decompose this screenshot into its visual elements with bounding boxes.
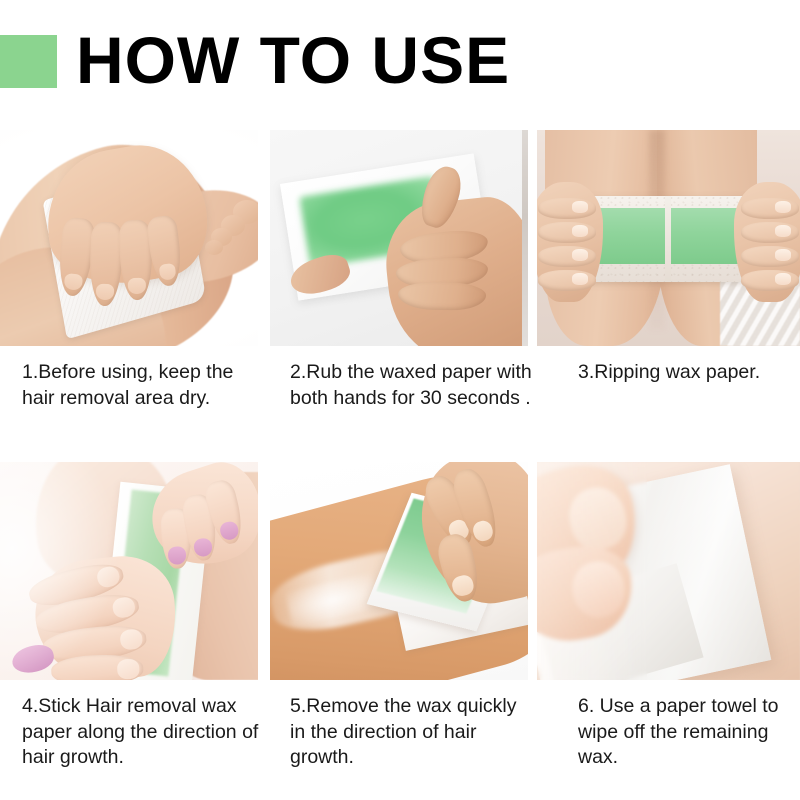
left-hand-shape [537,182,603,302]
fingers-group [60,218,210,310]
strip-seam [665,196,671,282]
soft-light-overlay [0,462,120,678]
step-3-photo [537,130,800,346]
step-4-photo [0,462,258,680]
depth-of-field-blur [537,462,647,680]
step-2-photo [270,130,528,346]
photo-edge-shadow [522,130,528,346]
title-accent-swatch [0,35,57,88]
step-4-caption: 4.Stick Hair removal wax paper along the… [22,694,270,771]
fingers-group [424,468,528,608]
right-hand-shape [734,182,800,302]
step-6-caption: 6. Use a paper towel to wipe off the rem… [578,694,800,771]
step-1-photo [0,130,258,346]
step-6-photo [537,462,800,680]
step-2-caption: 2.Rub the waxed paper with both hands fo… [290,360,540,411]
toes-group [205,200,258,255]
fingers-group [382,208,502,333]
step-3-caption: 3.Ripping wax paper. [578,360,800,386]
header: HOW TO USE [0,0,800,118]
page-title: HOW TO USE [76,23,510,97]
step-1-caption: 1.Before using, keep the hair removal ar… [22,360,270,411]
step-5-photo [270,462,528,680]
step-5-caption: 5.Remove the wax quickly in the directio… [290,694,540,771]
